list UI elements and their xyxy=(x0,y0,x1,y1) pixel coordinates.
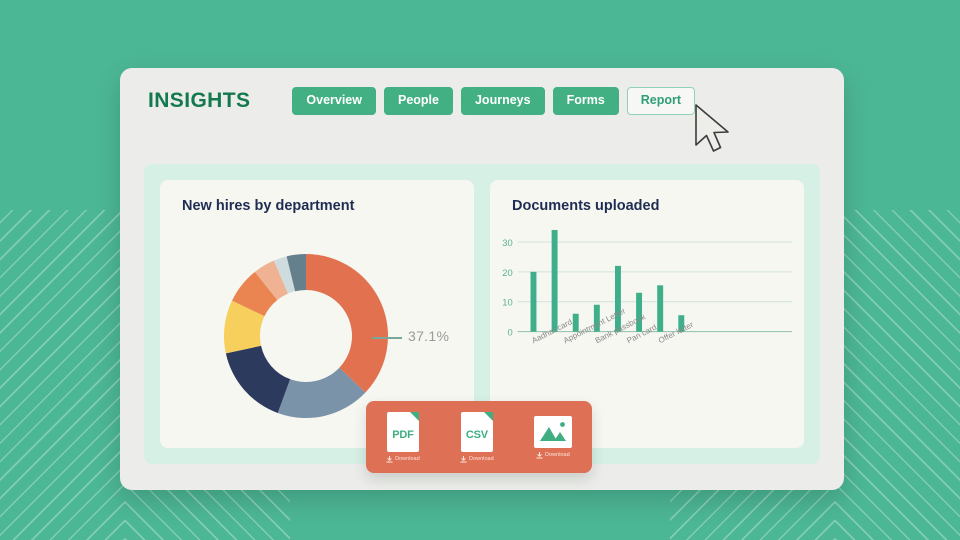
arrow-cursor xyxy=(693,104,749,165)
card-title-documents: Documents uploaded xyxy=(512,198,659,214)
donut-slice-3[interactable] xyxy=(226,346,290,413)
bar-chart: 0102030 Aadhar cardAppointment LetterBan… xyxy=(490,220,804,390)
pdf-label: PDF xyxy=(392,429,413,441)
download-pdf-button[interactable]: PDF Download xyxy=(386,412,420,463)
tab-journeys[interactable]: Journeys xyxy=(461,87,545,115)
donut-slices xyxy=(224,254,388,418)
download-text-pdf: Download xyxy=(395,456,420,462)
tab-overview[interactable]: Overview xyxy=(292,87,376,115)
bar-7[interactable] xyxy=(657,285,663,331)
page-title: INSIGHTS xyxy=(148,89,250,113)
card-title-new-hires: New hires by department xyxy=(182,198,354,214)
image-glyph-icon xyxy=(534,416,572,448)
csv-file-icon: CSV xyxy=(461,412,493,452)
tab-forms[interactable]: Forms xyxy=(553,87,619,115)
image-file-icon xyxy=(534,416,572,448)
pdf-file-icon: PDF xyxy=(387,412,419,452)
page-fold-icon xyxy=(484,412,493,421)
tab-people[interactable]: People xyxy=(384,87,453,115)
bar-chart-svg: 0102030 Aadhar cardAppointment LetterBan… xyxy=(490,220,804,390)
bar-5[interactable] xyxy=(615,266,621,332)
page-fold-icon xyxy=(410,412,419,421)
download-label-csv: Download xyxy=(460,456,494,463)
bar-chart-gridlines xyxy=(518,242,793,332)
download-label-pdf: Download xyxy=(386,456,420,463)
bar-2[interactable] xyxy=(552,230,558,332)
download-text-image: Download xyxy=(545,452,570,458)
y-tick-10: 10 xyxy=(502,298,512,308)
nav-tabs: Overview People Journeys Forms Report xyxy=(292,87,695,115)
y-tick-30: 30 xyxy=(502,238,512,248)
download-arrow-icon xyxy=(536,452,543,459)
y-tick-20: 20 xyxy=(502,268,512,278)
donut-leader-line xyxy=(372,337,402,339)
donut-percent-label: 37.1% xyxy=(408,328,449,344)
download-text-csv: Download xyxy=(469,456,494,462)
download-arrow-icon xyxy=(386,456,393,463)
bar-chart-y-axis: 0102030 xyxy=(502,238,512,338)
download-csv-button[interactable]: CSV Download xyxy=(460,412,494,463)
csv-label: CSV xyxy=(466,429,488,441)
y-tick-0: 0 xyxy=(507,328,512,338)
download-label-image: Download xyxy=(536,452,570,459)
download-image-button[interactable]: Download xyxy=(534,416,572,459)
bar-1[interactable] xyxy=(531,272,537,332)
download-panel: PDF Download CSV Download xyxy=(366,401,592,473)
donut-slice-1[interactable] xyxy=(306,254,388,393)
download-arrow-icon xyxy=(460,456,467,463)
tab-report[interactable]: Report xyxy=(627,87,695,115)
